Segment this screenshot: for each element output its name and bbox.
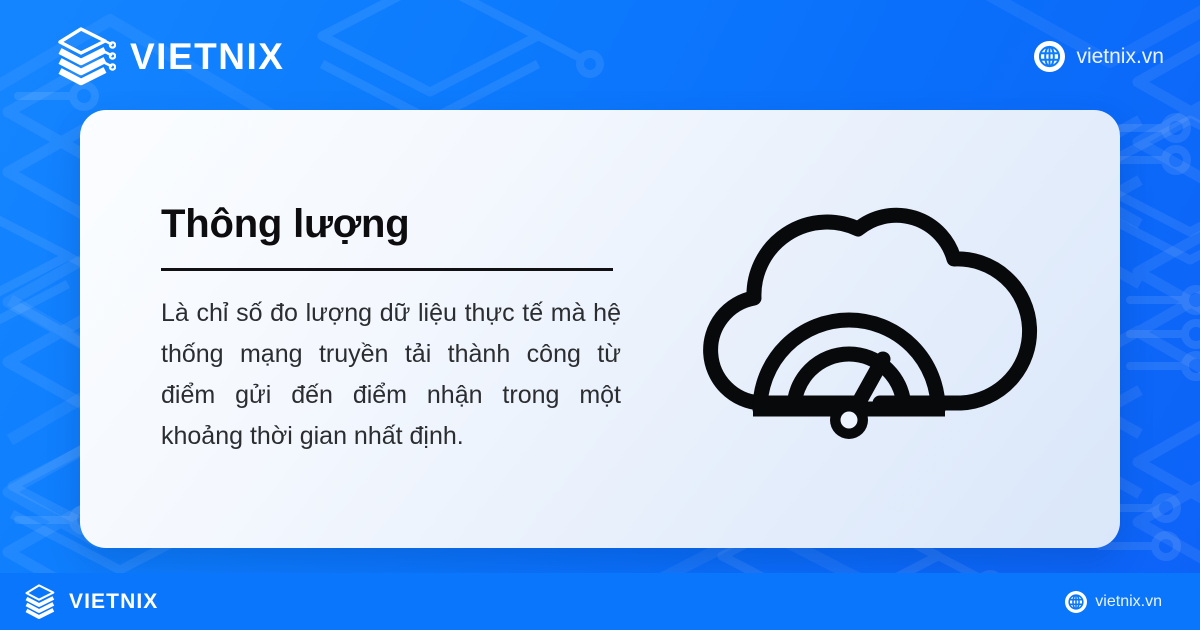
vietnix-stacked-layers-logo-icon xyxy=(56,25,116,87)
card-text-column: Thông lượng Là chỉ số đo lượng dữ liệu t… xyxy=(80,202,640,457)
globe-icon xyxy=(1034,41,1065,72)
card-description: Là chỉ số đo lượng dữ liệu thực tế mà hệ… xyxy=(161,293,621,456)
card-illustration xyxy=(640,189,1120,469)
header-site-url: vietnix.vn xyxy=(1076,46,1164,67)
vietnix-stacked-layers-logo-icon xyxy=(24,583,60,620)
infographic-canvas: VIETNIX vietnix.vn Thông lượng Là chỉ số… xyxy=(0,0,1200,630)
header-brand[interactable]: VIETNIX xyxy=(56,25,284,87)
globe-icon xyxy=(1065,591,1087,613)
content-card: Thông lượng Là chỉ số đo lượng dữ liệu t… xyxy=(80,110,1120,548)
brand-wordmark: VIETNIX xyxy=(130,38,284,75)
footer-brand[interactable]: VIETNIX xyxy=(24,583,158,620)
header-site-link[interactable]: vietnix.vn xyxy=(1034,41,1164,72)
footer-brand-wordmark: VIETNIX xyxy=(69,591,158,612)
footer-bar: VIETNIX vietnix.vn xyxy=(0,573,1200,630)
header-bar: VIETNIX vietnix.vn xyxy=(0,0,1200,112)
page-title: Thông lượng xyxy=(161,202,640,247)
cloud-speedometer-icon xyxy=(690,189,1042,461)
footer-site-url: vietnix.vn xyxy=(1095,594,1162,610)
footer-site-link[interactable]: vietnix.vn xyxy=(1065,591,1162,613)
title-divider xyxy=(161,268,613,271)
